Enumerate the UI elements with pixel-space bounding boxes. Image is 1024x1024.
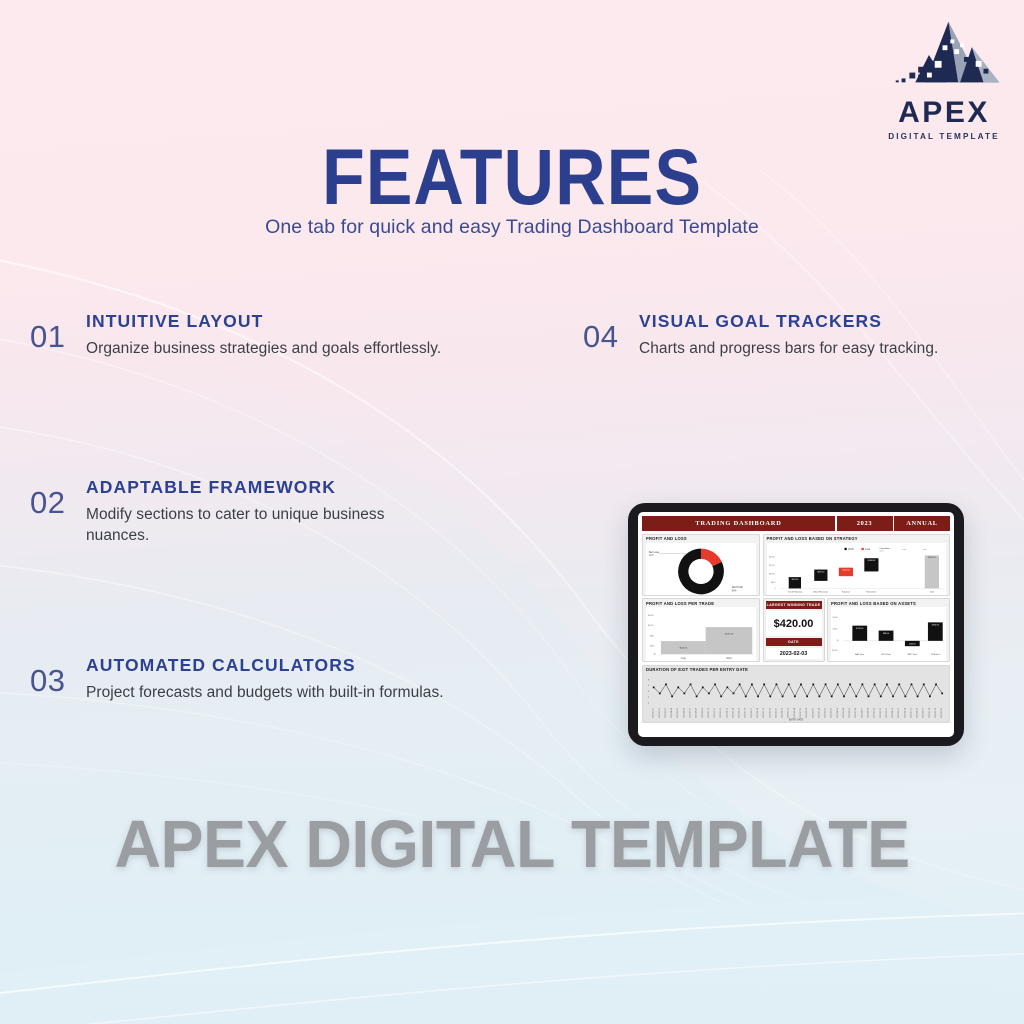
svg-text:2023-03-21: 2023-03-21 [775,708,777,718]
svg-text:Momentum: Momentum [866,590,876,593]
svg-text:2023-07-25: 2023-07-25 [800,708,802,718]
svg-text:2023-09-27: 2023-09-27 [812,708,814,718]
feature-number: 04 [583,312,639,352]
panel-pnl-per-trade: PROFIT AND LOSS PER TRADE $1600 $1200 $8… [642,598,760,662]
svg-text:$1160.00: $1160.00 [725,634,734,636]
svg-text:2023-08-17: 2023-08-17 [751,708,753,718]
svg-text:2023-09-17: 2023-09-17 [923,708,925,718]
svg-text:$520.00: $520.00 [680,648,688,650]
svg-text:2023-05-13: 2023-05-13 [898,708,900,718]
svg-text:MSFT Stock: MSFT Stock [908,653,918,656]
svg-text:2023-04-04: 2023-04-04 [671,708,673,718]
svg-text:$1000: $1000 [768,573,775,575]
svg-text:2023-09-08: 2023-09-08 [868,708,870,718]
svg-text:TSLA Stock: TSLA Stock [931,653,940,656]
panel-largest-winning-trade: LARGEST WINNING TRADE $420.00 DATE 2023-… [763,598,825,662]
feature-item-04: 04 VISUAL GOAL TRACKERS Charts and progr… [583,312,1013,359]
svg-text:$1500: $1500 [768,564,775,566]
svg-text:2023-06-15: 2023-06-15 [739,708,741,718]
svg-text:2023-08-16: 2023-08-16 [917,708,919,718]
svg-text:2023-05-05: 2023-05-05 [677,708,679,718]
svg-text:$1600: $1600 [648,615,655,617]
svg-text:AAPL Stock: AAPL Stock [855,653,864,656]
feature-title: INTUITIVE LAYOUT [86,312,441,331]
page-subtitle: One tab for quick and easy Trading Dashb… [0,216,1024,239]
svg-text:6: 6 [648,685,650,687]
svg-text:2023-03-12: 2023-03-12 [720,708,722,718]
svg-text:2023-05-14: 2023-05-14 [732,708,734,718]
svg-text:2023-07-16: 2023-07-16 [745,708,747,718]
svg-text:$2000: $2000 [768,556,775,558]
svg-text:$0: $0 [653,654,656,656]
svg-text:2023-08-26: 2023-08-26 [806,708,808,718]
feature-description: Charts and progress bars for easy tracki… [639,338,938,359]
svg-text:2023-02-19: 2023-02-19 [935,708,937,718]
kpi-value: $420.00 [766,611,822,636]
svg-text:2023-06-14: 2023-06-14 [904,708,906,718]
svg-text:-$440.00: -$440.00 [909,644,916,646]
svg-text:12%: 12% [649,554,655,557]
svg-text:Mean Reversion: Mean Reversion [813,591,827,593]
mountain-pixel-logo-icon [886,18,1003,96]
dashboard-header: TRADING DASHBOARD 2023 ANNUAL [642,516,950,531]
svg-text:2023-01-19: 2023-01-19 [763,708,765,718]
kpi-date-label: DATE [766,638,822,646]
logo-wordmark: APEX [884,98,1004,128]
svg-text:start: start [902,548,906,551]
svg-text:2023-02-01: 2023-02-01 [825,708,827,718]
svg-text:2023-09-09: 2023-09-09 [702,708,704,718]
feature-title: ADAPTABLE FRAMEWORK [86,478,450,497]
feature-number: 03 [30,656,86,696]
svg-text:88%: 88% [732,589,738,592]
kpi-date-value: 2023-02-03 [766,648,822,659]
per-trade-bar-chart: $1600 $1200 $800 $400 $0 $520.00 $1160.0… [646,607,756,662]
panel-profit-and-loss: PROFIT AND LOSS Net Loss 12% Net Profit … [642,534,760,596]
panel-pnl-by-assets: PROFIT AND LOSS BASED ON ASSETS $2000 $1… [827,598,950,662]
svg-text:2023-06-05: 2023-06-05 [849,708,851,718]
dashboard-period: ANNUAL [894,516,950,531]
svg-text:2023-04-22: 2023-04-22 [782,708,784,718]
duration-xlabel: ENTRY DATE [789,718,804,721]
svg-text:$1580.00: $1580.00 [932,625,939,627]
svg-text:Profit: Profit [848,548,854,551]
svg-text:2023-07-07: 2023-07-07 [690,708,692,718]
kpi-title: LARGEST WINNING TRADE [766,601,822,609]
feature-item-02: 02 ADAPTABLE FRAMEWORK Modify sections t… [30,478,450,546]
svg-text:2023-03-03: 2023-03-03 [665,708,667,718]
feature-item-01: 01 INTUITIVE LAYOUT Organize business st… [30,312,530,359]
dashboard-year: 2023 [837,516,893,531]
footer-brand-text: APEX DIGITAL TEMPLATE [0,812,1024,879]
svg-text:$870.00: $870.00 [817,571,824,573]
svg-text:$1200: $1200 [648,625,655,627]
svg-text:4: 4 [648,690,650,692]
svg-text:2023-03-20: 2023-03-20 [941,708,943,718]
pnl-donut-chart: Net Loss 12% Net Profit 88% [646,543,756,596]
svg-text:$1000: $1000 [833,629,838,631]
feature-item-03: 03 AUTOMATED CALCULATORS Project forecas… [30,656,450,703]
dashboard-title: TRADING DASHBOARD [642,516,835,531]
svg-text:2023-06-06: 2023-06-06 [683,708,685,718]
panel-title: PROFIT AND LOSS [646,537,756,541]
svg-text:$400: $400 [650,646,655,648]
svg-text:2023-09-18: 2023-09-18 [757,708,759,718]
svg-text:$500: $500 [770,581,775,583]
svg-text:2023-04-03: 2023-04-03 [837,708,839,718]
feature-title: VISUAL GOAL TRACKERS [639,312,938,331]
feature-number: 02 [30,478,86,518]
svg-text:2023-03-02: 2023-03-02 [831,708,833,718]
svg-text:Total: Total [929,590,934,593]
svg-text:2023-04-12: 2023-04-12 [892,708,894,718]
svg-text:2023-02-02: 2023-02-02 [659,708,661,718]
svg-text:2023-08-07: 2023-08-07 [861,708,863,718]
svg-text:$610.00: $610.00 [791,579,798,581]
feature-description: Organize business strategies and goals e… [86,338,441,359]
svg-text:Short: Short [726,657,732,660]
svg-text:Breakout: Breakout [841,590,849,593]
svg-text:-$520.00: -$520.00 [842,569,849,571]
svg-text:Long: Long [681,658,687,660]
feature-title: AUTOMATED CALCULATORS [86,656,444,675]
svg-text:2: 2 [648,696,650,698]
panel-title: PROFIT AND LOSS BASED ON ASSETS [831,602,946,606]
page-title: FEATURES [0,138,1024,216]
svg-text:8: 8 [648,679,650,681]
svg-text:2023-02-10: 2023-02-10 [880,708,882,718]
panel-title: PROFIT AND LOSS BASED ON STRATEGY [767,537,947,541]
svg-text:$2000: $2000 [833,617,838,619]
panel-pnl-by-strategy: PROFIT AND LOSS BASED ON STRATEGY Profit… [763,534,951,596]
svg-text:2023-02-20: 2023-02-20 [769,708,771,718]
svg-text:2023-01-10: 2023-01-10 [708,708,710,718]
svg-text:end: end [922,549,926,551]
panel-title: PROFIT AND LOSS PER TRADE [646,602,756,606]
svg-text:$1180.00: $1180.00 [867,560,875,562]
svg-text:0: 0 [648,702,650,704]
svg-text:2023-02-11: 2023-02-11 [714,708,716,718]
panel-title: DURATION OF EXIT TRADES PER ENTRY DATE [646,668,946,672]
feature-description: Project forecasts and budgets with built… [86,682,444,703]
svg-text:total: total [879,549,883,552]
dashboard-screen: TRADING DASHBOARD 2023 ANNUAL PROFIT AND… [638,512,954,737]
svg-text:2023-07-15: 2023-07-15 [910,708,912,718]
svg-text:2023-04-13: 2023-04-13 [726,708,728,718]
svg-text:$1920.00: $1920.00 [927,557,935,559]
svg-text:-$1000: -$1000 [832,650,838,652]
strategy-waterfall-chart: Profit Loss Cumulative total start end $… [767,543,947,596]
svg-text:GOOG Stock: GOOG Stock [881,653,891,656]
svg-text:0: 0 [774,588,776,590]
svg-text:Trend Following: Trend Following [787,591,801,593]
feature-number: 01 [30,312,86,352]
svg-text:2023-07-06: 2023-07-06 [855,708,857,718]
brand-logo: APEX DIGITAL TEMPLATE [884,18,1004,141]
svg-text:$800: $800 [650,636,655,638]
duration-line-chart: 8 6 4 2 0 2023-01-012023-02-022023-03-03… [646,674,946,723]
svg-text:2023-01-28: 2023-01-28 [818,708,820,718]
svg-text:Loss: Loss [865,549,871,551]
feature-description: Modify sections to cater to unique busin… [86,504,450,546]
svg-text:2023-05-04: 2023-05-04 [843,708,845,718]
assets-bar-chart: $2000 $1000 $0 -$1000 $1290.00 $860.00 [831,607,946,662]
svg-text:2023-01-18: 2023-01-18 [929,708,931,718]
svg-text:2023-05-23: 2023-05-23 [788,708,790,718]
svg-text:$1290.00: $1290.00 [856,628,863,630]
svg-text:2023-06-24: 2023-06-24 [794,708,796,718]
svg-text:$860.00: $860.00 [883,633,889,635]
tablet-device-mockup: TRADING DASHBOARD 2023 ANNUAL PROFIT AND… [628,503,964,746]
svg-text:2023-01-01: 2023-01-01 [653,708,655,718]
svg-text:2023-08-08: 2023-08-08 [696,708,698,718]
panel-duration-of-exit-trades: DURATION OF EXIT TRADES PER ENTRY DATE 8… [642,665,950,723]
svg-text:2023-03-11: 2023-03-11 [886,708,888,718]
svg-text:2023-01-09: 2023-01-09 [874,708,876,718]
svg-text:$0: $0 [837,640,839,642]
